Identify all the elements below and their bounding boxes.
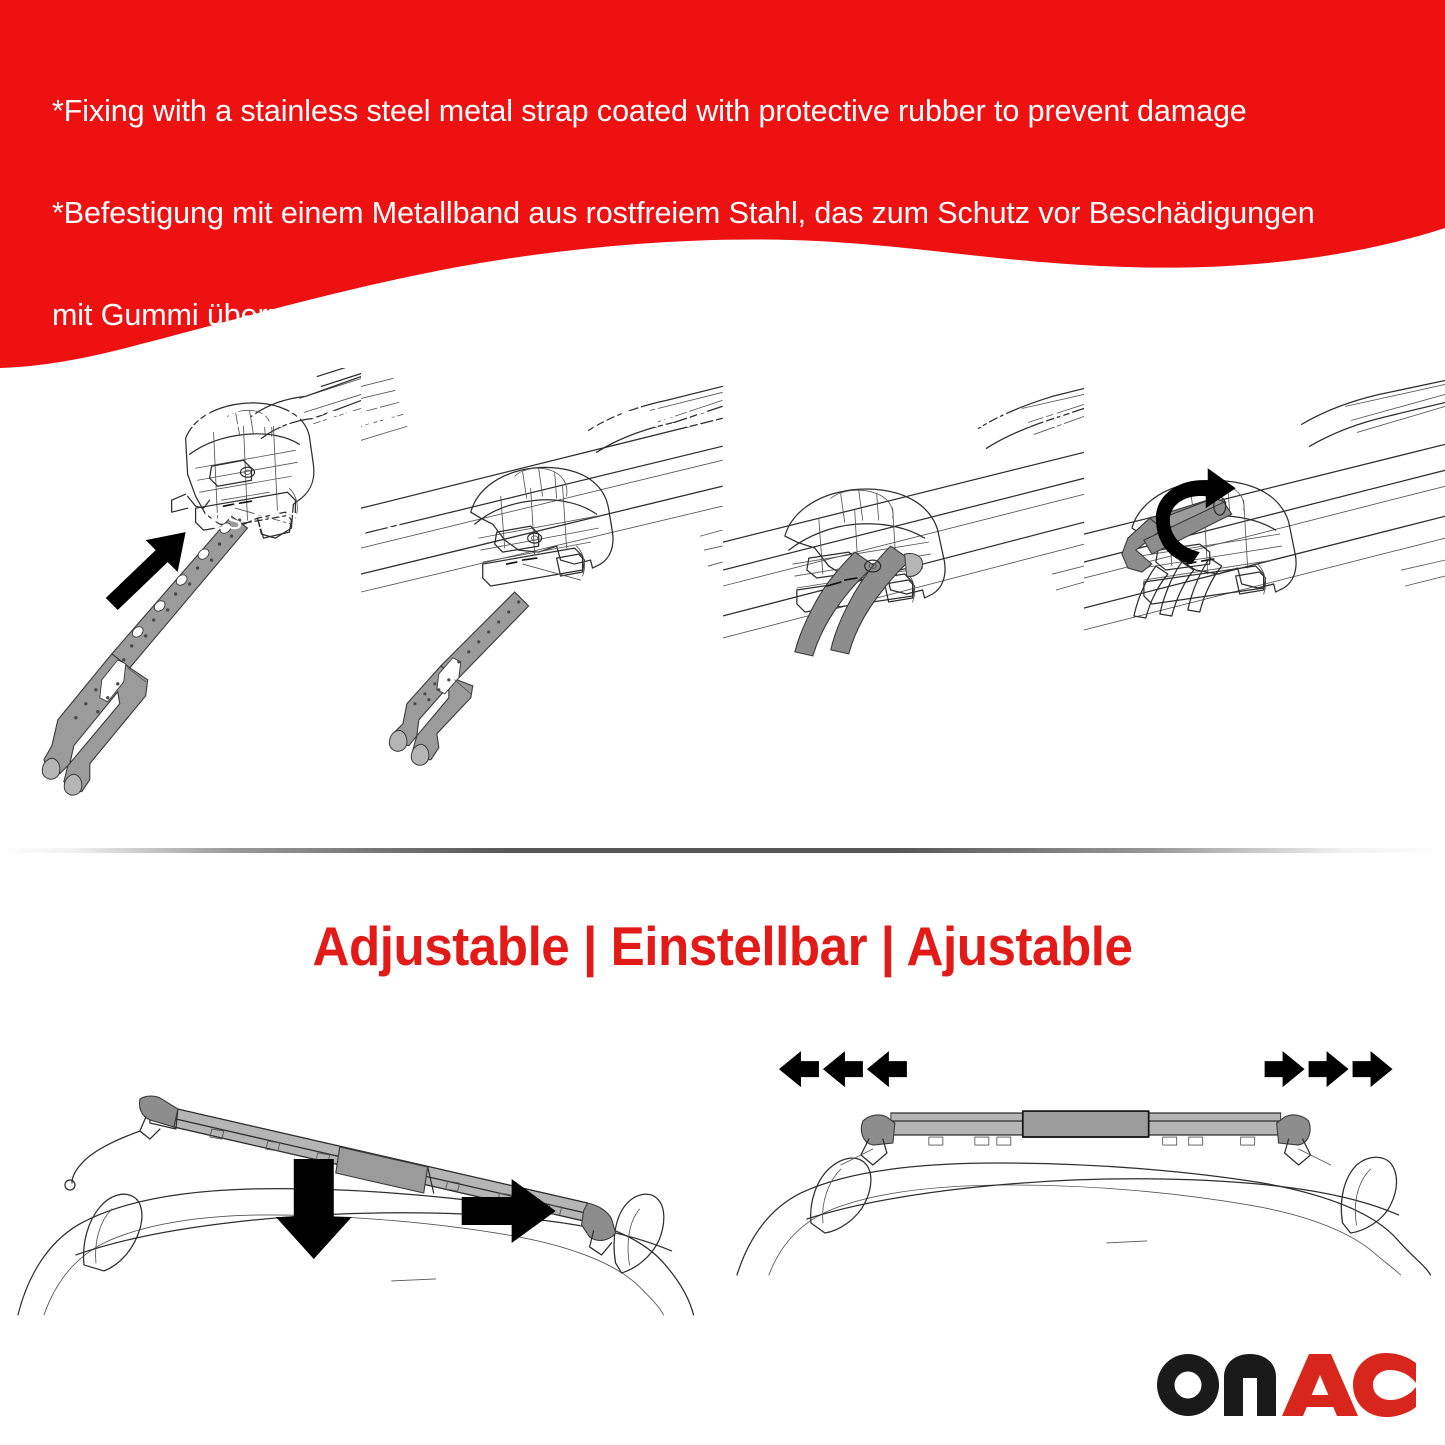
roof-rail-left-icon [84, 1194, 142, 1271]
triple-right-arrow-icon [1264, 1051, 1392, 1087]
omac-logo [1151, 1351, 1423, 1423]
triple-left-arrow-icon [778, 1051, 906, 1087]
crossbar-icon [140, 1096, 616, 1255]
lower-and-slide-illustration [0, 1025, 723, 1330]
logo-letter-o [1157, 1354, 1219, 1416]
tether-cable-icon [65, 1131, 140, 1190]
logo-letter-m [1224, 1354, 1276, 1416]
perforated-metal-strap-icon [390, 592, 529, 765]
vehicle-illustrations-row [0, 1025, 1445, 1330]
vehicle-panel-1 [0, 1025, 723, 1330]
banner-line-de-1: *Befestigung mit einem Metallband aus ro… [52, 196, 1422, 230]
red-header-banner: *Fixing with a stainless steel metal str… [0, 0, 1445, 370]
banner-line-fr-1: *Fixation avec une sangle en métal inoxy… [52, 400, 1422, 434]
roof-rail-left-icon [810, 1158, 870, 1233]
banner-text-block: *Fixing with a stainless steel metal str… [52, 26, 1422, 604]
vehicle-panel-2 [723, 1025, 1445, 1330]
section-divider [0, 848, 1445, 853]
banner-line-fr-2: pour éviter les dommages. [52, 502, 1422, 536]
telescoping-width-illustration [723, 1025, 1445, 1330]
roof-rail-right-icon [1341, 1157, 1396, 1233]
omac-logo-mark [1151, 1351, 1423, 1423]
adjustable-heading: Adjustable | Einstellbar | Ajustable [51, 915, 1395, 977]
banner-line-en: *Fixing with a stainless steel metal str… [52, 94, 1422, 128]
banner-line-de-2: mit Gummi überzogen ist [52, 298, 1422, 332]
logo-letter-a [1282, 1354, 1358, 1416]
car-roof-outline-icon [736, 1163, 1430, 1275]
logo-letter-c [1353, 1353, 1416, 1417]
infographic-page: *Fixing with a stainless steel metal str… [0, 0, 1445, 1445]
crossbar-icon [840, 1111, 1330, 1165]
